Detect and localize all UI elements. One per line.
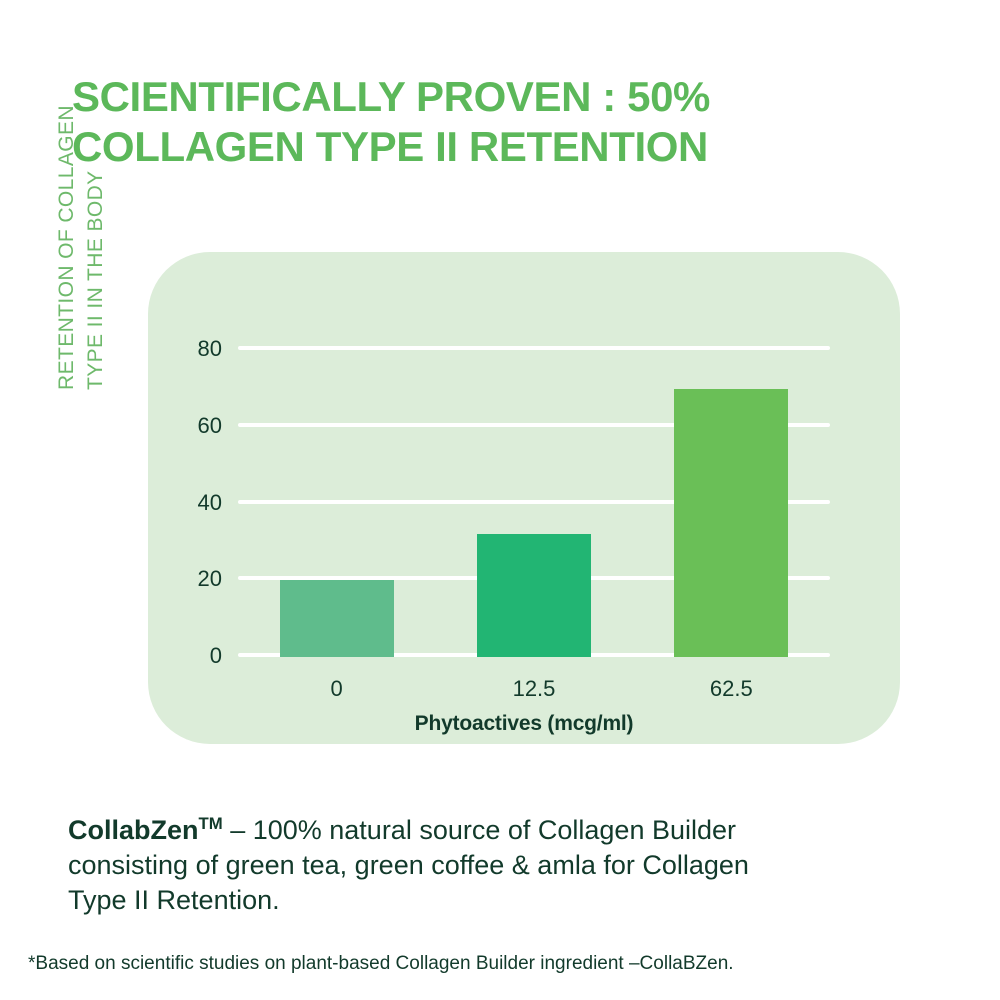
y-axis-tick-label: 0 [132, 645, 222, 667]
x-axis-title: Phytoactives (mcg/ml) [148, 712, 900, 736]
y-axis-tick-label: 80 [132, 338, 222, 360]
trademark-symbol: TM [199, 814, 223, 833]
y-axis-tick-label: 60 [132, 415, 222, 437]
footnote: *Based on scientific studies on plant-ba… [28, 952, 968, 976]
body-paragraph: CollabZenTM – 100% natural source of Col… [68, 806, 788, 918]
y-axis-title-line-2: TYPE II IN THE BODY [81, 0, 110, 390]
page-title-line-1: SCIENTIFICALLY PROVEN : 50% [72, 72, 872, 122]
brand-name: CollabZenTM [68, 815, 223, 845]
page-title: SCIENTIFICALLY PROVEN : 50% COLLAGEN TYP… [72, 72, 872, 172]
x-axis-tick-label: 12.5 [464, 676, 604, 702]
chart-panel: 020406080 012.562.5 Phytoactives (mcg/ml… [148, 252, 900, 744]
y-axis-tick-label: 40 [132, 492, 222, 514]
y-axis-title: RETENTION OF COLLAGEN TYPE II IN THE BOD… [52, 0, 142, 390]
page-title-line-2: COLLAGEN TYPE II RETENTION [72, 122, 872, 172]
bar [477, 534, 591, 657]
x-axis-tick-label: 62.5 [661, 676, 801, 702]
bar [280, 580, 394, 657]
bar [674, 389, 788, 657]
brand-label: CollabZen [68, 815, 199, 845]
y-axis-title-line-1: RETENTION OF COLLAGEN [52, 0, 81, 390]
x-axis-tick-label: 0 [267, 676, 407, 702]
gridline [238, 346, 830, 350]
y-axis-tick-label: 20 [132, 568, 222, 590]
